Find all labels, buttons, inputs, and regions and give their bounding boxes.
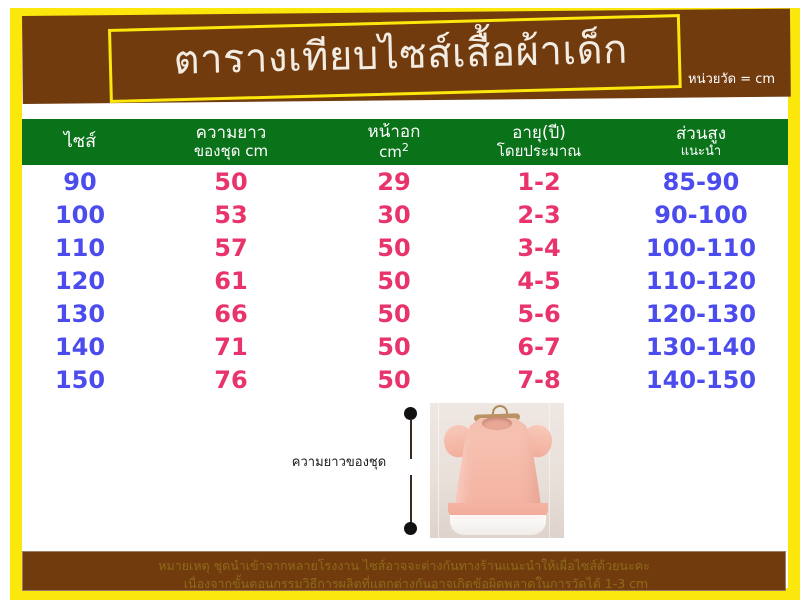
footer-note-line-2: เนื่องจากขั้นตอนกรรมวิธีการผลิตที่แตกต่า… (23, 575, 785, 593)
cell-chest: 29 (324, 165, 464, 198)
cell-age: 7-8 (464, 363, 614, 396)
size-table-wrapper: ไซส์ ความยาว ของชุด cm หน้าอก cm2 อายุ(ป… (22, 119, 788, 396)
cell-chest: 50 (324, 264, 464, 297)
cell-size: 150 (22, 363, 138, 396)
column-header-age: อายุ(ปี) โดยประมาณ (464, 119, 614, 165)
column-header-length: ความยาว ของชุด cm (138, 119, 324, 165)
length-measure-arrow-icon (404, 407, 418, 535)
table-row: 120 61 50 4-5 110-120 (22, 264, 788, 297)
column-header-length-sub: ของชุด cm (138, 143, 324, 161)
cell-size: 140 (22, 330, 138, 363)
photo-background-line (438, 403, 439, 538)
cell-size: 130 (22, 297, 138, 330)
cell-height: 120-130 (614, 297, 788, 330)
column-header-height-sub: แนะนำ (614, 144, 788, 159)
cell-age: 3-4 (464, 231, 614, 264)
column-header-age-main: อายุ(ปี) (464, 123, 614, 143)
dress-tulle-hem (450, 515, 546, 535)
cell-chest: 50 (324, 363, 464, 396)
table-header: ไซส์ ความยาว ของชุด cm หน้าอก cm2 อายุ(ป… (22, 119, 788, 165)
dress-photo (430, 403, 564, 538)
cell-size: 110 (22, 231, 138, 264)
cell-length: 76 (138, 363, 324, 396)
table-row: 110 57 50 3-4 100-110 (22, 231, 788, 264)
cell-size: 120 (22, 264, 138, 297)
size-table: ไซส์ ความยาว ของชุด cm หน้าอก cm2 อายุ(ป… (22, 119, 788, 396)
column-header-chest-sub: cm2 (324, 142, 464, 162)
footer-note-line-1: หมายเหตุ ชุดนำเข้าจากหลายโรงงาน ไซส์อาจจ… (23, 557, 785, 575)
column-header-age-sub: โดยประมาณ (464, 143, 614, 161)
cell-height: 100-110 (614, 231, 788, 264)
cell-height: 85-90 (614, 165, 788, 198)
cell-chest: 50 (324, 231, 464, 264)
cell-age: 4-5 (464, 264, 614, 297)
cell-chest: 50 (324, 330, 464, 363)
table-row: 90 50 29 1-2 85-90 (22, 165, 788, 198)
square-superscript: 2 (402, 141, 409, 154)
table-row: 140 71 50 6-7 130-140 (22, 330, 788, 363)
cell-age: 1-2 (464, 165, 614, 198)
cell-length: 61 (138, 264, 324, 297)
cell-chest: 50 (324, 297, 464, 330)
measure-bar-lower (410, 475, 412, 525)
column-header-chest-main: หน้าอก (324, 122, 464, 142)
cell-length: 50 (138, 165, 324, 198)
dress-illustration: ความยาวของชุด (270, 403, 600, 538)
column-header-chest: หน้าอก cm2 (324, 119, 464, 165)
cell-age: 6-7 (464, 330, 614, 363)
footer-note: หมายเหตุ ชุดนำเข้าจากหลายโรงงาน ไซส์อาจจ… (22, 551, 786, 591)
dress-collar (482, 417, 512, 430)
measure-bar-upper (410, 419, 412, 459)
cell-height: 130-140 (614, 330, 788, 363)
cell-chest: 30 (324, 198, 464, 231)
table-row: 150 76 50 7-8 140-150 (22, 363, 788, 396)
measure-label: ความยาวของชุด (280, 451, 398, 472)
cell-age: 5-6 (464, 297, 614, 330)
cell-height: 110-120 (614, 264, 788, 297)
column-header-size-label: ไซส์ (22, 131, 138, 152)
cell-length: 53 (138, 198, 324, 231)
unit-note: หน่วยวัด = cm (688, 68, 775, 89)
size-chart-page: ตารางเทียบไซส์เสื้อผ้าเด็ก หน่วยวัด = cm… (0, 0, 810, 608)
cell-length: 66 (138, 297, 324, 330)
cell-age: 2-3 (464, 198, 614, 231)
table-body: 90 50 29 1-2 85-90 100 53 30 2-3 90-100 … (22, 165, 788, 396)
cell-height: 140-150 (614, 363, 788, 396)
table-row: 130 66 50 5-6 120-130 (22, 297, 788, 330)
measure-dot-bottom-icon (404, 522, 417, 535)
table-row: 100 53 30 2-3 90-100 (22, 198, 788, 231)
column-header-height-main: ส่วนสูง (614, 124, 788, 144)
cell-length: 71 (138, 330, 324, 363)
cell-size: 90 (22, 165, 138, 198)
column-header-height: ส่วนสูง แนะนำ (614, 119, 788, 165)
cell-height: 90-100 (614, 198, 788, 231)
table-header-row: ไซส์ ความยาว ของชุด cm หน้าอก cm2 อายุ(ป… (22, 119, 788, 165)
cell-length: 57 (138, 231, 324, 264)
column-header-size: ไซส์ (22, 119, 138, 165)
cell-size: 100 (22, 198, 138, 231)
column-header-length-main: ความยาว (138, 123, 324, 143)
photo-background-line (549, 403, 550, 538)
